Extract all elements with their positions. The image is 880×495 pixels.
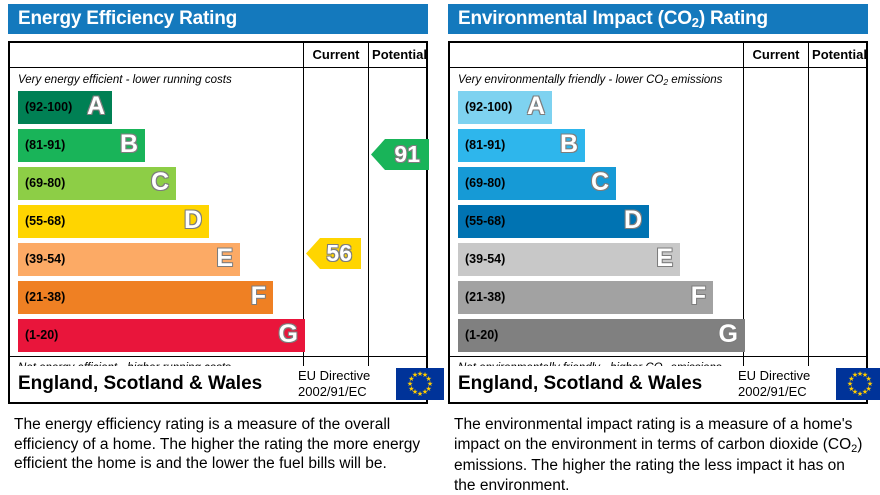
energy-description: The energy efficiency rating is a measur… [14,415,424,474]
band-letter-a: A [87,91,105,124]
environmental-footer-country: England, Scotland & Wales [458,366,702,402]
co2-subscript-description: 2 [851,443,857,455]
band-letter-d: D [184,205,202,238]
potential-rating-arrow: 91 [371,139,429,170]
band-letter-e: E [216,243,233,276]
environmental-chart-header-row: Current Potential [450,43,866,68]
energy-efficiency-chart-frame: Current Potential Very energy efficient … [8,41,428,404]
band-range-e: (39-54) [465,243,505,276]
band-range-c: (69-80) [25,167,65,200]
band-range-b: (81-91) [25,129,65,162]
environmental-impact-title-suffix: ) Rating [699,8,768,29]
band-letter-g: G [719,319,738,352]
band-range-f: (21-38) [25,281,65,314]
band-range-d: (55-68) [25,205,65,238]
band-letter-b: B [120,129,138,162]
environmental-impact-panel: Environmental Impact (CO2) Rating Curren… [440,0,876,493]
band-bar-a: (92-100)A [458,91,552,124]
environmental-impact-title: Environmental Impact (CO2) Rating [448,4,868,34]
band-bar-b: (81-91)B [18,129,145,162]
environmental-impact-title-text: Environmental Impact (CO [458,8,692,29]
eu-flag-icon: ★★★★★★★★★★★★ [396,368,444,400]
energy-footer-directive: EU Directive 2002/91/EC [298,368,394,400]
band-letter-f: F [691,281,706,314]
band-letter-b: B [560,129,578,162]
band-letter-g: G [279,319,298,352]
band-range-f: (21-38) [465,281,505,314]
energy-efficiency-title-text: Energy Efficiency Rating [18,8,237,29]
energy-footer-country: England, Scotland & Wales [18,366,262,402]
energy-footer-bar: England, Scotland & Wales EU Directive 2… [8,366,428,404]
eu-flag-icon: ★★★★★★★★★★★★ [836,368,880,400]
epc-chart-page: Energy Efficiency Rating Current Potenti… [0,0,880,493]
band-range-d: (55-68) [465,205,505,238]
eu-star-icon: ★ [852,372,859,379]
band-range-c: (69-80) [465,167,505,200]
environmental-band-bars: (92-100)A(81-91)B(69-80)C(55-68)D(39-54)… [450,91,742,356]
energy-directive-line-2: 2002/91/EC [298,384,394,400]
band-range-e: (39-54) [25,243,65,276]
environmental-directive-line-2: 2002/91/EC [738,384,834,400]
environmental-description-text: The environmental impact rating is a mea… [454,416,852,453]
eu-star-icon: ★ [412,372,419,379]
energy-directive-line-1: EU Directive [298,368,394,384]
band-bar-f: (21-38)F [18,281,273,314]
energy-efficiency-panel: Energy Efficiency Rating Current Potenti… [0,0,436,493]
band-bar-e: (39-54)E [18,243,240,276]
band-bar-d: (55-68)D [18,205,209,238]
band-bar-a: (92-100)A [18,91,112,124]
current-rating-arrow: 56 [306,238,361,269]
environmental-footer-bar: England, Scotland & Wales EU Directive 2… [448,366,868,404]
band-bar-b: (81-91)B [458,129,585,162]
environmental-directive-line-1: EU Directive [738,368,834,384]
energy-column-header-potential: Potential [369,43,430,67]
band-bar-f: (21-38)F [458,281,713,314]
co2-subscript-caption-top: 2 [663,77,668,87]
band-letter-f: F [251,281,266,314]
band-bar-g: (1-20)G [18,319,305,352]
band-bar-c: (69-80)C [18,167,176,200]
environmental-footer-directive: EU Directive 2002/91/EC [738,368,834,400]
energy-efficiency-title: Energy Efficiency Rating [8,4,428,34]
environmental-chart-frame: Current Potential Very environmentally f… [448,41,868,404]
band-range-g: (1-20) [25,319,58,352]
band-letter-c: C [151,167,169,200]
band-bar-e: (39-54)E [458,243,680,276]
environmental-column-header-potential: Potential [809,43,870,67]
band-range-g: (1-20) [465,319,498,352]
band-letter-d: D [624,205,642,238]
band-bar-g: (1-20)G [458,319,745,352]
energy-chart-header-row: Current Potential [10,43,426,68]
band-range-a: (92-100) [25,91,72,124]
environmental-column-divider-2 [808,43,809,402]
band-letter-a: A [527,91,545,124]
environmental-caption-top-text: Very environmentally friendly - lower CO [458,74,663,86]
band-bar-d: (55-68)D [458,205,649,238]
band-range-a: (92-100) [465,91,512,124]
band-range-b: (81-91) [465,129,505,162]
environmental-caption-top: Very environmentally friendly - lower CO… [450,69,742,91]
band-letter-c: C [591,167,609,200]
band-letter-e: E [656,243,673,276]
environmental-column-header-current: Current [744,43,808,67]
energy-band-bars: (92-100)A(81-91)B(69-80)C(55-68)D(39-54)… [10,91,302,356]
environmental-caption-top-suffix: emissions [668,74,722,86]
energy-caption-top: Very energy efficient - lower running co… [10,69,302,91]
energy-column-header-current: Current [304,43,368,67]
co2-subscript-title: 2 [692,15,699,30]
band-bar-c: (69-80)C [458,167,616,200]
environmental-description: The environmental impact rating is a mea… [454,415,864,495]
energy-column-divider-2 [368,43,369,402]
